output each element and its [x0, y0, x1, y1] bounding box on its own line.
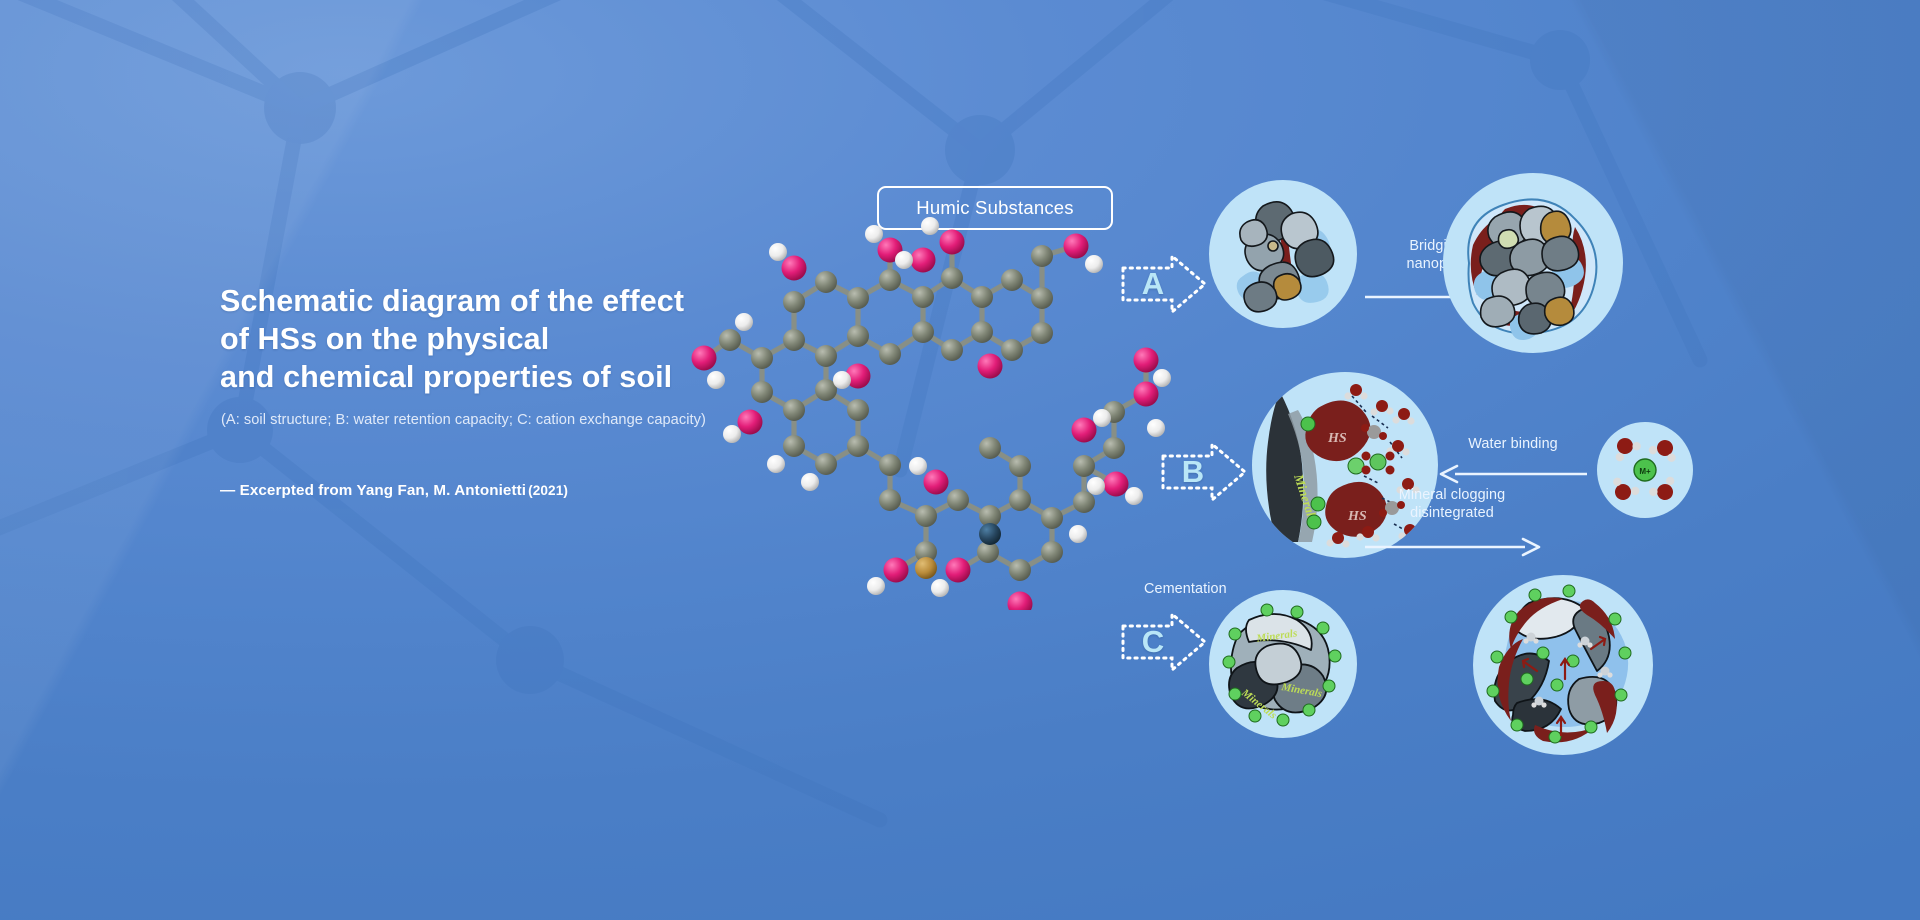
flow-label-water-binding: Water binding	[1438, 435, 1588, 453]
step-arrow-a[interactable]: A	[1120, 252, 1208, 316]
step-arrow-b[interactable]: B	[1160, 440, 1248, 504]
step-arrow-b-letter: B	[1160, 440, 1248, 504]
attribution-text: — Excerpted from Yang Fan, M. Antonietti	[220, 482, 526, 499]
attribution-year: (2021)	[528, 483, 568, 498]
step-arrow-c-letter: C	[1120, 610, 1208, 674]
panel-mineral-clogged-aggregate: Minerals Minerals Minerals	[1209, 590, 1357, 738]
step-arrow-a-letter: A	[1120, 252, 1208, 316]
step-arrow-c[interactable]: C	[1120, 610, 1208, 674]
flow-label-cementation: Cementation	[1144, 580, 1227, 598]
diagram-canvas: Schematic diagram of the effect of HSs o…	[0, 0, 1920, 920]
panel-disintegrated-aggregate-cations	[1473, 575, 1653, 755]
panel-hs-mineral-water-shell: Minerals HS HS	[1252, 372, 1438, 558]
flow-arrow-b	[1437, 462, 1589, 486]
panel-soil-aggregate-bridged	[1443, 173, 1623, 353]
flow-label-mineral-clogging: Mineral clogging disintegrated	[1362, 486, 1542, 522]
panel-b-label-hs-1: HS	[1327, 431, 1347, 446]
cation-symbol: M+	[1639, 467, 1651, 476]
panel-hydrated-cation: M+	[1597, 422, 1693, 518]
flow-arrow-c	[1363, 535, 1543, 559]
panel-soil-aggregate-loose	[1209, 180, 1357, 328]
